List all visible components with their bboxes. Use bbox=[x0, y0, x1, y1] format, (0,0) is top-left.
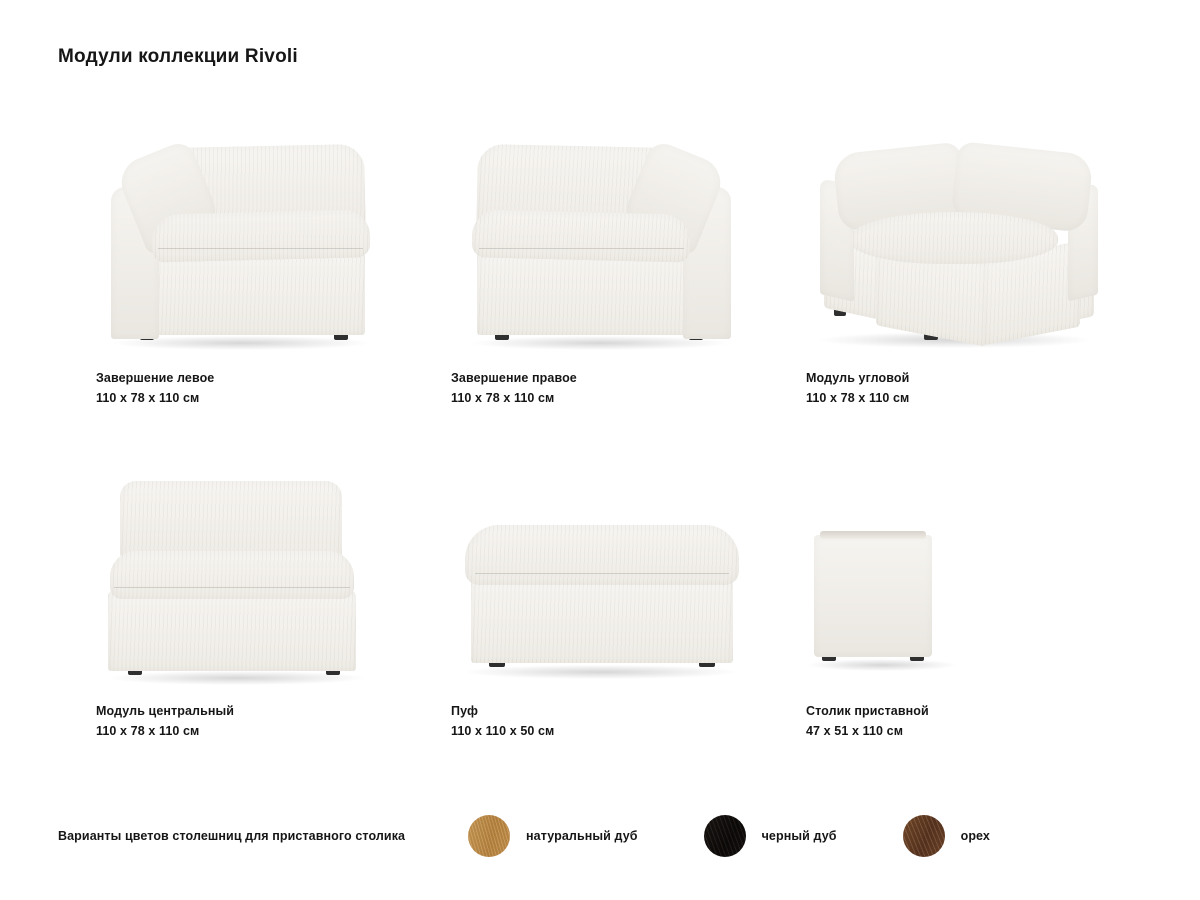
legend-label: Варианты цветов столешниц для приставног… bbox=[58, 829, 458, 843]
module-name: Столик приставной bbox=[806, 703, 1126, 720]
module-image-ottoman bbox=[451, 473, 751, 688]
module-image-right-end bbox=[451, 140, 751, 355]
module-caption: Столик приставной 47 x 51 x 110 см bbox=[806, 703, 1126, 740]
module-caption: Пуф 110 x 110 x 50 см bbox=[451, 703, 771, 740]
swatch-label: орех bbox=[961, 829, 990, 843]
module-grid: Завершение левое 110 x 78 x 110 см Завер… bbox=[58, 140, 1148, 746]
module-card-center[interactable]: Модуль центральный 110 x 78 x 110 см bbox=[58, 473, 413, 746]
drop-shadow bbox=[465, 665, 737, 679]
module-caption: Завершение правое 110 x 78 x 110 см bbox=[451, 370, 771, 407]
page-title: Модули коллекции Rivoli bbox=[58, 46, 298, 68]
module-image-corner bbox=[806, 140, 1106, 355]
module-image-center bbox=[96, 473, 396, 688]
module-caption: Модуль угловой 110 x 78 x 110 см bbox=[806, 370, 1126, 407]
module-card-side-table[interactable]: Столик приставной 47 x 51 x 110 см bbox=[768, 473, 1123, 746]
module-seat-cushion bbox=[110, 551, 354, 599]
module-dimensions: 110 x 78 x 110 см bbox=[806, 390, 1126, 407]
seam-line bbox=[475, 573, 729, 574]
module-base bbox=[108, 591, 356, 671]
color-swatch-black-oak-icon[interactable] bbox=[704, 815, 746, 857]
module-caption: Завершение левое 110 x 78 x 110 см bbox=[96, 370, 416, 407]
swatch-label: черный дуб bbox=[762, 829, 837, 843]
catalog-page: Модули коллекции Rivoli Завершение левое… bbox=[0, 0, 1200, 900]
module-name: Завершение левое bbox=[96, 370, 416, 387]
color-options-legend: Варианты цветов столешниц для приставног… bbox=[58, 815, 1148, 857]
corner-seat-cushion bbox=[850, 212, 1058, 264]
module-dimensions: 110 x 78 x 110 см bbox=[96, 723, 416, 740]
swatch-label: натуральный дуб bbox=[526, 829, 638, 843]
module-card-corner[interactable]: Модуль угловой 110 x 78 x 110 см bbox=[768, 140, 1123, 413]
module-image-side-table bbox=[806, 473, 1106, 688]
side-table-top bbox=[820, 531, 926, 539]
module-name: Завершение правое bbox=[451, 370, 771, 387]
ottoman-base bbox=[471, 579, 733, 663]
module-card-ottoman[interactable]: Пуф 110 x 110 x 50 см bbox=[413, 473, 768, 746]
module-dimensions: 110 x 110 x 50 см bbox=[451, 723, 771, 740]
module-card-left-end[interactable]: Завершение левое 110 x 78 x 110 см bbox=[58, 140, 413, 413]
seam-line bbox=[114, 587, 350, 588]
swatch-group: натуральный дуб черный дуб орех bbox=[468, 815, 990, 857]
module-name: Модуль центральный bbox=[96, 703, 416, 720]
seam-line bbox=[158, 248, 363, 249]
module-dimensions: 110 x 78 x 110 см bbox=[96, 390, 416, 407]
module-dimensions: 110 x 78 x 110 см bbox=[451, 390, 771, 407]
swatch-item-walnut[interactable]: орех bbox=[903, 815, 990, 857]
color-swatch-walnut-icon[interactable] bbox=[903, 815, 945, 857]
module-card-right-end[interactable]: Завершение правое 110 x 78 x 110 см bbox=[413, 140, 768, 413]
module-caption: Модуль центральный 110 x 78 x 110 см bbox=[96, 703, 416, 740]
module-name: Модуль угловой bbox=[806, 370, 1126, 387]
module-seat-cushion bbox=[151, 209, 370, 262]
module-seat-cushion bbox=[471, 209, 690, 262]
swatch-item-black-oak[interactable]: черный дуб bbox=[704, 815, 837, 857]
module-image-left-end bbox=[96, 140, 396, 355]
side-table-body bbox=[814, 535, 932, 657]
color-swatch-natural-oak-icon[interactable] bbox=[468, 815, 510, 857]
ottoman-cushion bbox=[465, 525, 739, 585]
swatch-item-natural-oak[interactable]: натуральный дуб bbox=[468, 815, 638, 857]
module-name: Пуф bbox=[451, 703, 771, 720]
seam-line bbox=[479, 248, 684, 249]
module-dimensions: 47 x 51 x 110 см bbox=[806, 723, 1126, 740]
module-backrest bbox=[120, 481, 342, 561]
